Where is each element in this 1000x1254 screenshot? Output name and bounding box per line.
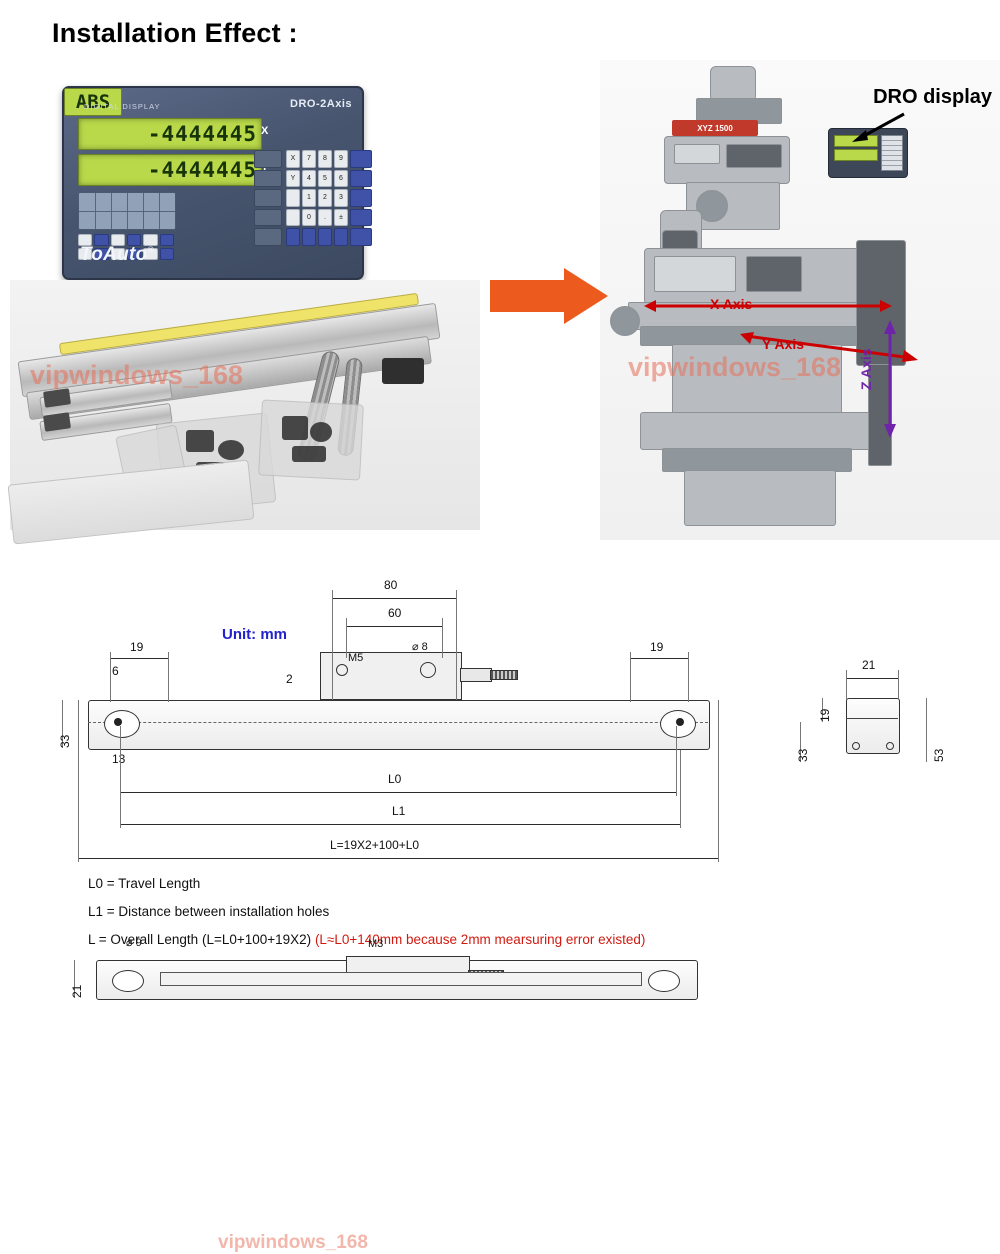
lcd-x-readout: -4444445 [78, 118, 262, 150]
x-axis-label: X Axis [710, 296, 752, 312]
note-l0: L0 = Travel Length [88, 876, 200, 891]
function-key-column-left[interactable] [254, 150, 282, 246]
key[interactable]: 4 [302, 170, 316, 188]
dim-hole8: ⌀ 8 [412, 640, 428, 653]
numeric-keypad[interactable]: X 7 8 9 Y 4 5 6 1 2 3 0 . ± [286, 150, 348, 246]
dim-bottom-m3: M3 [368, 938, 383, 950]
key[interactable] [286, 209, 300, 227]
note-l1: L1 = Distance between installation holes [88, 904, 329, 919]
key[interactable]: 8 [318, 150, 332, 168]
dim-60: 60 [388, 606, 401, 620]
reading-head [320, 652, 462, 700]
key[interactable] [350, 150, 372, 168]
key[interactable] [350, 189, 372, 207]
dim-6: 6 [112, 664, 119, 678]
dim-left-19: 19 [130, 640, 143, 654]
dim-bottom-hole9: ⌀ 9 [126, 936, 142, 949]
dro-display-callout-label: DRO display [873, 86, 992, 109]
dim-side-19: 19 [818, 709, 832, 722]
linear-scale-kit-photo [10, 280, 480, 530]
bottom-hole-left [112, 970, 144, 992]
key[interactable] [350, 209, 372, 227]
key[interactable]: Y [286, 170, 300, 188]
y-axis-label: Y Axis [762, 336, 804, 352]
key[interactable] [302, 228, 316, 246]
digital-display-label: DIGITAL DISPLAY [84, 102, 161, 111]
dim-l0: L0 [388, 772, 401, 786]
key[interactable] [334, 228, 348, 246]
dim-side-33: 33 [796, 749, 810, 762]
dim-right-19: 19 [650, 640, 663, 654]
dim-l1: L1 [392, 804, 405, 818]
key[interactable] [350, 228, 372, 246]
note-l: L = Overall Length (L=L0+100+19X2) (L≈L0… [88, 932, 645, 947]
technical-drawing: vipwindows_168 Unit: mm 80 60 M5 ⌀ 8 19 … [0, 560, 1000, 1000]
x-axis-arrow-icon [644, 296, 894, 316]
dro-model-label: DRO-2Axis [290, 98, 352, 110]
key[interactable]: 7 [302, 150, 316, 168]
note-l-main: L = Overall Length (L=L0+100+19X2) [88, 932, 311, 947]
key[interactable]: 2 [318, 189, 332, 207]
watermark-left: vipwindows_168 [30, 360, 243, 391]
key[interactable]: 6 [334, 170, 348, 188]
key[interactable] [254, 209, 282, 227]
mounting-hole-left [104, 710, 140, 738]
key[interactable] [254, 189, 282, 207]
key[interactable] [254, 150, 282, 168]
key[interactable] [254, 170, 282, 188]
key[interactable] [286, 228, 300, 246]
scale-body [88, 700, 710, 750]
key[interactable] [350, 170, 372, 188]
milling-machine-photo: XYZ 1500 DRO display X Axis Y Axis [600, 60, 1000, 540]
key[interactable]: 1 [302, 189, 316, 207]
z-axis-label: Z Axis [858, 349, 874, 391]
watermark-drawing: vipwindows_168 [218, 1232, 368, 1254]
dim-13: 13 [112, 752, 125, 766]
dim-side-53: 53 [932, 749, 946, 762]
dim-side-21: 21 [862, 658, 875, 672]
key[interactable]: ± [334, 209, 348, 227]
dim-33-left: 33 [58, 735, 72, 748]
key[interactable]: 5 [318, 170, 332, 188]
key[interactable] [160, 248, 174, 260]
scale-centerline [88, 722, 708, 723]
dim-bottom-21: 21 [70, 985, 84, 998]
dro-callout-arrow-icon [848, 110, 908, 144]
key[interactable] [254, 228, 282, 246]
key[interactable] [286, 189, 300, 207]
note-l-red: (L≈L0+140mm because 2mm mearsuring error… [315, 932, 645, 947]
axis-x-tag: X [261, 125, 268, 137]
key[interactable]: 9 [334, 150, 348, 168]
dim-80: 80 [384, 578, 397, 592]
key[interactable]: X [286, 150, 300, 168]
key[interactable]: 3 [334, 189, 348, 207]
key[interactable] [318, 228, 332, 246]
watermark-right: vipwindows_168 [628, 352, 841, 383]
machine-model-banner: XYZ 1500 [672, 120, 758, 136]
key[interactable]: 0 [302, 209, 316, 227]
dim-overall: L=19X2+100+L0 [330, 838, 419, 852]
flow-arrow-icon [490, 268, 610, 328]
bottom-hole-right [648, 970, 680, 992]
dim-m5: M5 [348, 652, 363, 664]
dro-display-unit: DIGITAL DISPLAY DRO-2Axis -4444445 -4444… [62, 86, 364, 280]
function-diagram-plate [78, 192, 176, 230]
page-title: Installation Effect : [52, 18, 298, 49]
dim-2: 2 [286, 672, 293, 686]
unit-label: Unit: mm [222, 626, 287, 643]
brand-logo: ToAuto® [80, 244, 154, 266]
key[interactable] [160, 234, 174, 246]
lcd-y-readout: -4444445 [78, 154, 262, 186]
z-axis-arrow-icon [880, 320, 900, 440]
key[interactable]: . [318, 209, 332, 227]
function-key-column-right[interactable] [350, 150, 372, 246]
